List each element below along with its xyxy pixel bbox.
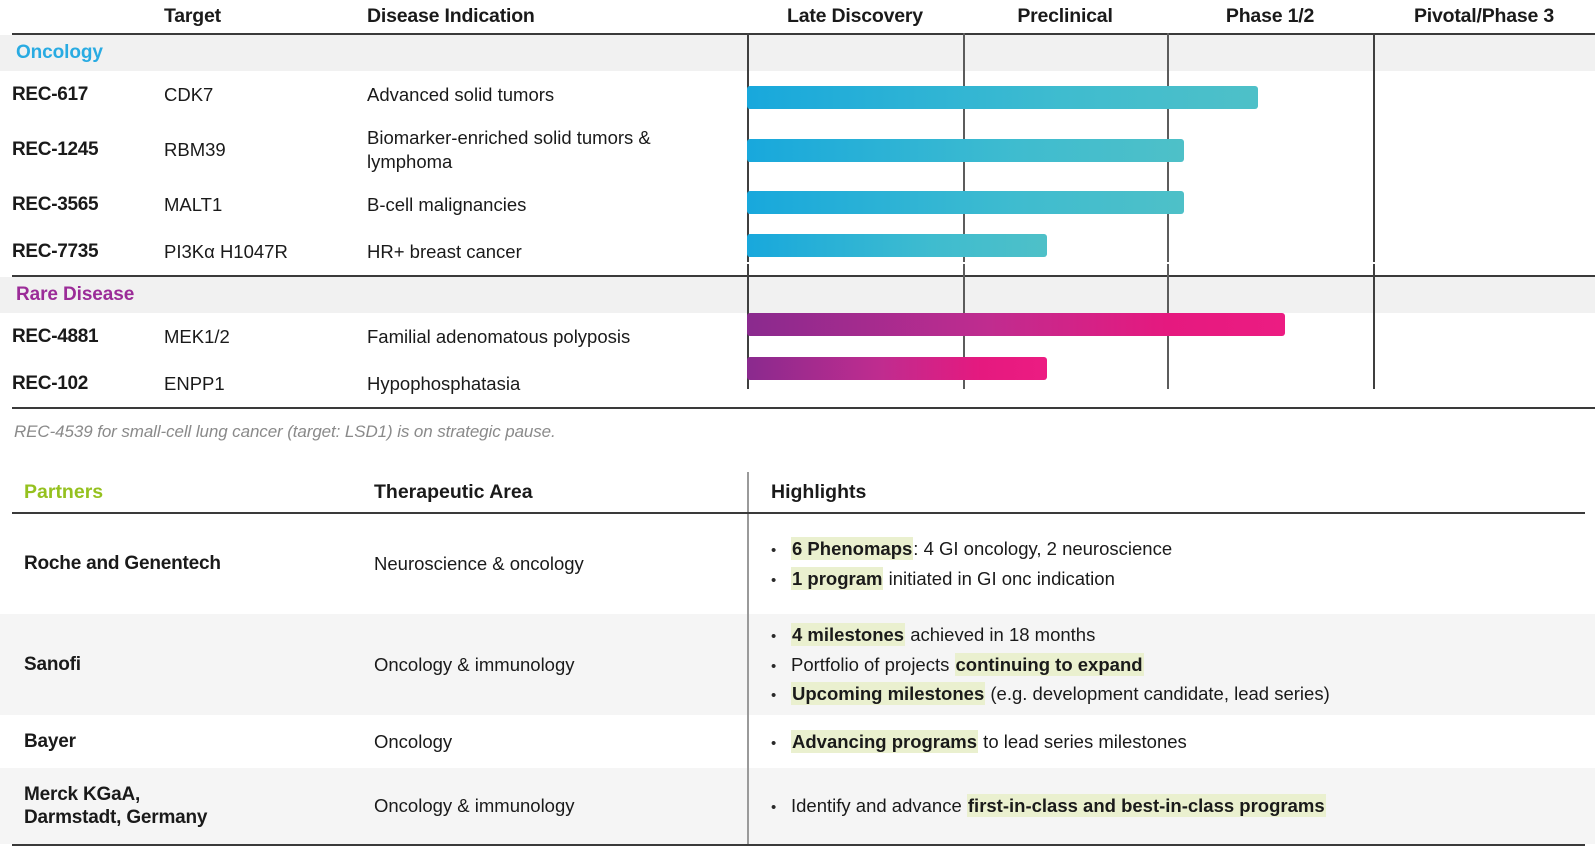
highlight-emphasis: 4 milestones	[791, 623, 905, 646]
program-code: REC-617	[12, 84, 164, 106]
partners-header-highlights: Highlights	[749, 472, 1595, 512]
program-code: REC-3565	[12, 194, 164, 216]
program-code: REC-1245	[12, 139, 164, 161]
partners-grid: Partners Therapeutic Area Highlights Roc…	[0, 472, 1595, 846]
pipeline-header-stage-preclinical: Preclinical	[963, 5, 1167, 28]
pipeline-header-row: Target Disease Indication Late Discovery…	[0, 0, 1595, 33]
highlight-bullet: • Identify and advance first-in-class an…	[771, 791, 1595, 821]
highlight-bullet: • Portfolio of projects continuing to ex…	[771, 650, 1595, 680]
bullet-icon: •	[771, 684, 791, 708]
program-code: REC-102	[12, 373, 164, 395]
stage-divider-6	[963, 264, 965, 389]
partner-row-merck-area: Oncology & immunology	[374, 768, 747, 844]
bullet-icon: •	[771, 655, 791, 679]
pipeline-section-label-oncology: Oncology	[12, 42, 747, 64]
program-target: MALT1	[164, 194, 367, 216]
highlight-bullet: • Advancing programs to lead series mile…	[771, 727, 1595, 757]
stage-divider-3	[1167, 33, 1169, 262]
partners-header-partners: Partners	[24, 472, 374, 512]
pipeline-header-stage-phase-1-2: Phase 1/2	[1167, 5, 1373, 28]
partner-row-roche-name: Roche and Genentech	[24, 514, 374, 614]
partner-row-bayer-name: Bayer	[24, 715, 374, 768]
partner-name: Merck KGaA, Darmstadt, Germany	[24, 783, 207, 829]
stage-divider-8	[1373, 264, 1375, 389]
highlight-emphasis: continuing to expand	[955, 653, 1144, 676]
partner-name: Bayer	[24, 730, 76, 753]
bullet-icon: •	[771, 732, 791, 756]
highlight-text: to lead series milestones	[978, 731, 1187, 752]
partner-name: Roche and Genentech	[24, 552, 221, 575]
highlight-text: initiated in GI onc indication	[883, 568, 1114, 589]
pipeline-row-rec-4881: REC-4881 MEK1/2 Familial adenomatous pol…	[0, 313, 1595, 360]
stage-divider-1	[747, 33, 749, 262]
partner-row-roche-highlights: • 6 Phenomaps: 4 GI oncology, 2 neurosci…	[749, 514, 1595, 614]
partners-table: Partners Therapeutic Area Highlights Roc…	[0, 472, 1595, 846]
bullet-icon: •	[771, 569, 791, 593]
program-disease: Hypophosphatasia	[367, 372, 747, 396]
pipeline-row-rec-7735: REC-7735 PI3Kα H1047R HR+ breast cancer	[0, 228, 1595, 275]
highlight-bullet: • 6 Phenomaps: 4 GI oncology, 2 neurosci…	[771, 534, 1595, 564]
pipeline-row-rec-3565: REC-3565 MALT1 B-cell malignancies	[0, 181, 1595, 228]
program-target: MEK1/2	[164, 326, 367, 348]
pipeline-table: Target Disease Indication Late Discovery…	[0, 0, 1595, 442]
partner-row-sanofi-name: Sanofi	[24, 614, 374, 715]
program-disease: Biomarker-enriched solid tumors & lympho…	[367, 126, 747, 173]
highlight-emphasis: Upcoming milestones	[791, 682, 985, 705]
pipeline-section-oncology: Oncology	[0, 35, 1595, 71]
program-disease: B-cell malignancies	[367, 193, 747, 217]
stage-divider-2	[963, 33, 965, 262]
pipeline-section-rare-disease: Rare Disease	[0, 277, 1595, 313]
pipeline-row-rec-617: REC-617 CDK7 Advanced solid tumors	[0, 71, 1595, 118]
stage-divider-5	[747, 264, 749, 389]
partners-header-therapeutic-area: Therapeutic Area	[374, 472, 747, 512]
highlight-text: achieved in 18 months	[905, 624, 1095, 645]
program-disease: HR+ breast cancer	[367, 240, 747, 264]
partner-row-merck-highlights: • Identify and advance first-in-class an…	[749, 768, 1595, 844]
partner-row-roche-area: Neuroscience & oncology	[374, 514, 747, 614]
pipeline-header-stage-late-discovery: Late Discovery	[747, 5, 963, 28]
partner-row-merck-name: Merck KGaA, Darmstadt, Germany	[24, 768, 374, 844]
program-code: REC-7735	[12, 241, 164, 263]
partner-row-bayer-area: Oncology	[374, 715, 747, 768]
bullet-icon: •	[771, 539, 791, 563]
bullet-icon: •	[771, 796, 791, 820]
highlight-bullet: • 4 milestones achieved in 18 months	[771, 620, 1595, 650]
pipeline-header-target: Target	[164, 5, 367, 28]
highlight-emphasis: first-in-class and best-in-class program…	[967, 794, 1326, 817]
program-target: PI3Kα H1047R	[164, 241, 367, 263]
partner-row-sanofi-area: Oncology & immunology	[374, 614, 747, 715]
program-disease: Advanced solid tumors	[367, 83, 747, 107]
highlight-text: Identify and advance	[791, 795, 967, 816]
bullet-icon: •	[771, 625, 791, 649]
program-target: RBM39	[164, 139, 367, 161]
stage-divider-4	[1373, 33, 1375, 262]
highlight-text: Portfolio of projects	[791, 654, 955, 675]
highlight-emphasis: 6 Phenomaps	[791, 537, 913, 560]
pipeline-header-stage-pivotal-phase-3: Pivotal/Phase 3	[1373, 5, 1595, 28]
highlight-bullet: • 1 program initiated in GI onc indicati…	[771, 564, 1595, 594]
partner-row-bayer-highlights: • Advancing programs to lead series mile…	[749, 715, 1595, 768]
pipeline-footnote: REC-4539 for small-cell lung cancer (tar…	[0, 409, 1595, 442]
partner-row-sanofi-highlights: • 4 milestones achieved in 18 months • P…	[749, 614, 1595, 715]
program-target: CDK7	[164, 84, 367, 106]
pipeline-header-disease: Disease Indication	[367, 5, 747, 28]
pipeline-row-rec-102: REC-102 ENPP1 Hypophosphatasia	[0, 360, 1595, 407]
highlight-text: (e.g. development candidate, lead series…	[985, 683, 1330, 704]
program-target: ENPP1	[164, 373, 367, 395]
highlight-emphasis: 1 program	[791, 567, 883, 590]
highlight-text: : 4 GI oncology, 2 neuroscience	[913, 538, 1172, 559]
pipeline-row-rec-1245: REC-1245 RBM39 Biomarker-enriched solid …	[0, 118, 1595, 181]
pipeline-section-label-rare-disease: Rare Disease	[12, 284, 747, 306]
program-code: REC-4881	[12, 326, 164, 348]
program-disease: Familial adenomatous polyposis	[367, 325, 747, 349]
partner-name: Sanofi	[24, 653, 81, 676]
highlight-emphasis: Advancing programs	[791, 730, 978, 753]
stage-divider-7	[1167, 264, 1169, 389]
highlight-bullet: • Upcoming milestones (e.g. development …	[771, 679, 1595, 709]
